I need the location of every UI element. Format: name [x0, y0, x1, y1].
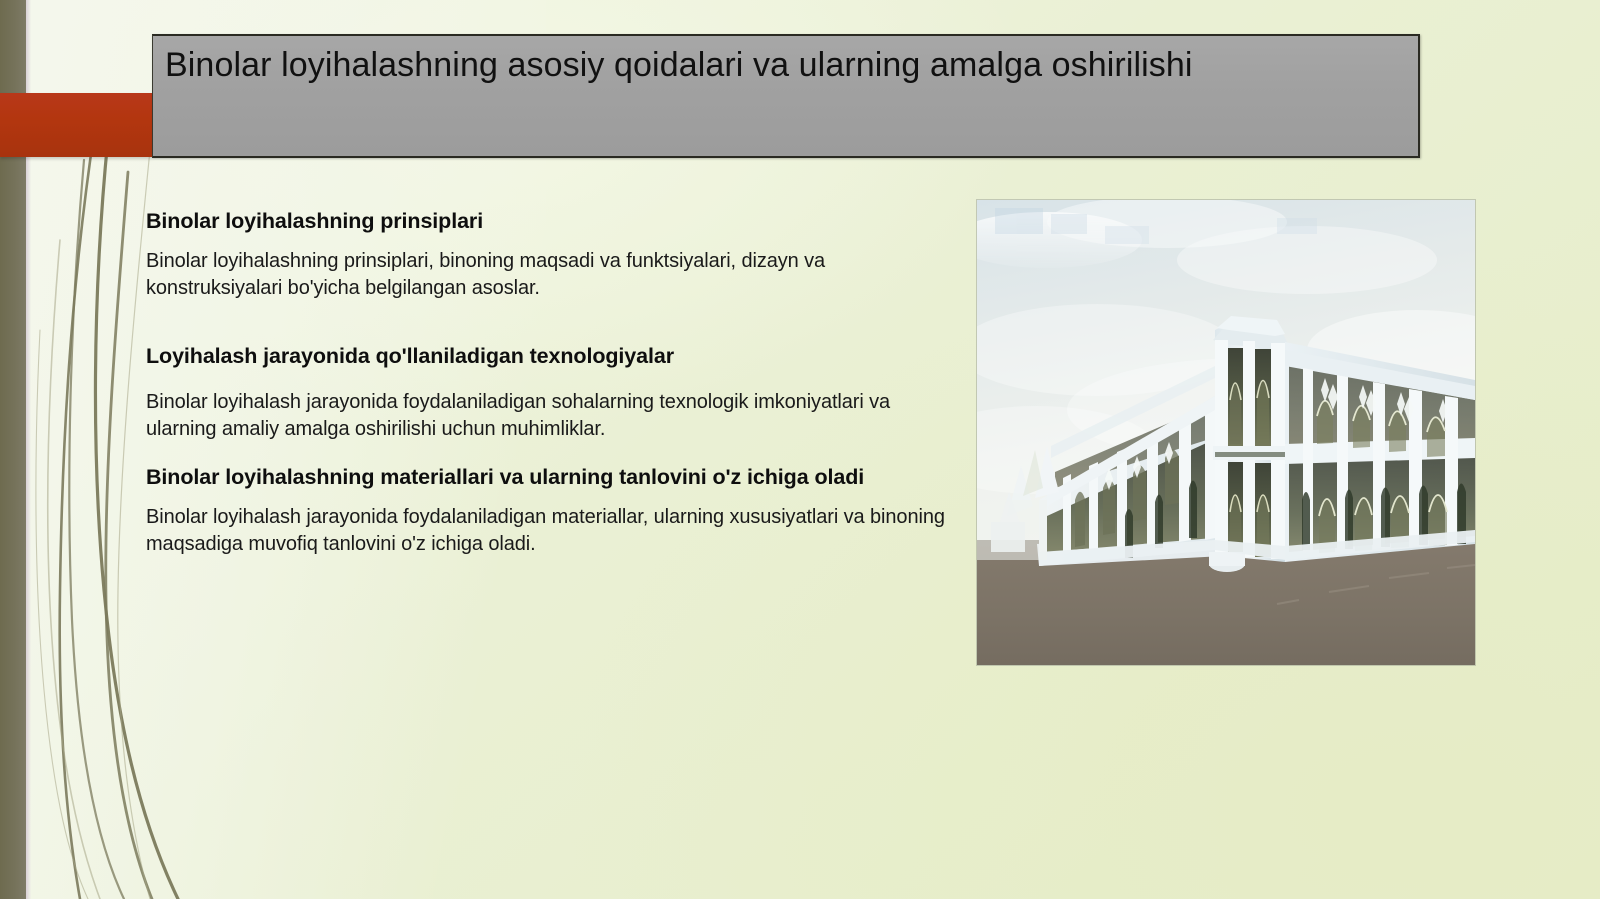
section-paragraph-2: Binolar loyihalash jarayonida foydalanil… — [146, 389, 958, 442]
section-heading-1: Binolar loyihalashning prinsiplari — [146, 208, 958, 236]
red-accent-bar — [0, 93, 153, 157]
spacer — [146, 371, 958, 389]
spacer — [146, 442, 958, 464]
section-paragraph-3: Binolar loyihalash jarayonida foydalanil… — [146, 504, 958, 557]
spacer — [146, 301, 958, 343]
building-rendering-image — [977, 200, 1475, 665]
title-plate: Binolar loyihalashning asosiy qoidalari … — [152, 34, 1420, 158]
content-column: Binolar loyihalashning prinsiplari Binol… — [146, 208, 958, 557]
section-heading-3: Binolar loyihalashning materiallari va u… — [146, 464, 958, 492]
bay-pedestal-block — [1209, 552, 1245, 566]
section-paragraph-1: Binolar loyihalashning prinsiplari, bino… — [146, 248, 958, 301]
spacer — [146, 236, 958, 248]
building-illustration — [977, 200, 1475, 665]
section-heading-2: Loyihalash jarayonida qo'llaniladigan te… — [146, 343, 958, 371]
haze — [977, 500, 1047, 560]
page-title: Binolar loyihalashning asosiy qoidalari … — [165, 44, 1400, 88]
slide-canvas: Binolar loyihalashning asosiy qoidalari … — [0, 0, 1600, 899]
bay-mid-shadow — [1215, 452, 1285, 457]
spacer — [146, 492, 958, 504]
